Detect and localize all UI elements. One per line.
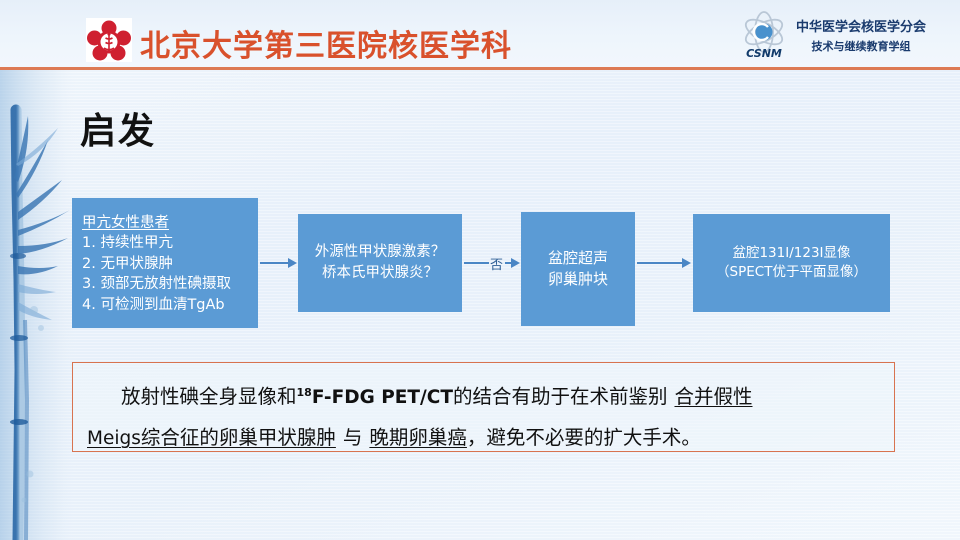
conclusion-l1-d: 合并假性 — [674, 385, 752, 408]
flow-box-pelvic-ultrasound[interactable]: 盆腔超声 卵巢肿块 — [521, 212, 635, 326]
flow-box1-heading: 甲亢女性患者 — [82, 213, 258, 234]
flow-box3-line-1: 盆腔超声 — [548, 248, 608, 269]
connector-3-line — [637, 262, 682, 264]
conclusion-l2-a: Meigs — [87, 428, 141, 449]
conclusion-l2-d: 晚期卵巢癌 — [369, 426, 467, 449]
connector-1-line — [260, 262, 288, 264]
conclusion-text-box: 放射性碘全身显像和18F-FDG PET/CT的结合有助于在术前鉴别合并假性 M… — [72, 362, 895, 452]
conclusion-line-1: 放射性碘全身显像和18F-FDG PET/CT的结合有助于在术前鉴别合并假性 — [87, 373, 880, 418]
connector-2-arrowhead — [511, 258, 520, 268]
flow-box3-line-2: 卵巢肿块 — [548, 269, 608, 290]
connector-2-line — [464, 262, 489, 264]
conclusion-l2-b: 综合征的卵巢甲状腺肿 — [141, 426, 336, 449]
flow-box1-item-1: 1. 持续性甲亢 — [82, 233, 258, 254]
conclusion-l1-b: F-FDG PET/CT — [312, 387, 453, 408]
slide-canvas: 北京大学第三医院核医学科 CSNM 中华医学会核医学分会 技术与继续教育学组 启… — [0, 0, 960, 540]
conclusion-l2-c: 与 — [343, 426, 363, 449]
connector-1-arrowhead — [288, 258, 297, 268]
connector-3-arrowhead — [682, 258, 691, 268]
flow-box-differential-question[interactable]: 外源性甲状腺激素？ 桥本氏甲状腺炎？ — [298, 214, 462, 312]
conclusion-l1-a: 放射性碘全身显像和 — [121, 385, 297, 408]
flow-box1-item-2: 2. 无甲状腺肿 — [82, 254, 258, 275]
flow-box4-line-2: （SPECT优于平面显像） — [716, 263, 867, 282]
conclusion-l2-e: ，避免不必要的扩大手术。 — [467, 426, 701, 449]
conclusion-l1-c: 的结合有助于在术前鉴别 — [453, 385, 668, 408]
flow-box2-line-1: 外源性甲状腺激素？ — [315, 242, 446, 263]
flow-box2-line-2: 桥本氏甲状腺炎？ — [322, 263, 438, 284]
flow-box-patient-profile[interactable]: 甲亢女性患者 1. 持续性甲亢 2. 无甲状腺肿 3. 颈部无放射性碘摄取 4.… — [72, 198, 258, 328]
conclusion-line-2: Meigs综合征的卵巢甲状腺肿与晚期卵巢癌，避免不必要的扩大手术。 — [87, 418, 880, 459]
flow-box1-item-4: 4. 可检测到血清TgAb — [82, 295, 258, 316]
flow-box1-item-3: 3. 颈部无放射性碘摄取 — [82, 274, 258, 295]
flow-box4-line-1: 盆腔131I/123I显像 — [732, 244, 850, 263]
connector-2-label: 否 — [490, 254, 503, 273]
flow-box-pelvic-iodine-imaging[interactable]: 盆腔131I/123I显像 （SPECT优于平面显像） — [693, 214, 890, 312]
conclusion-superscript-18: 18 — [297, 386, 312, 399]
